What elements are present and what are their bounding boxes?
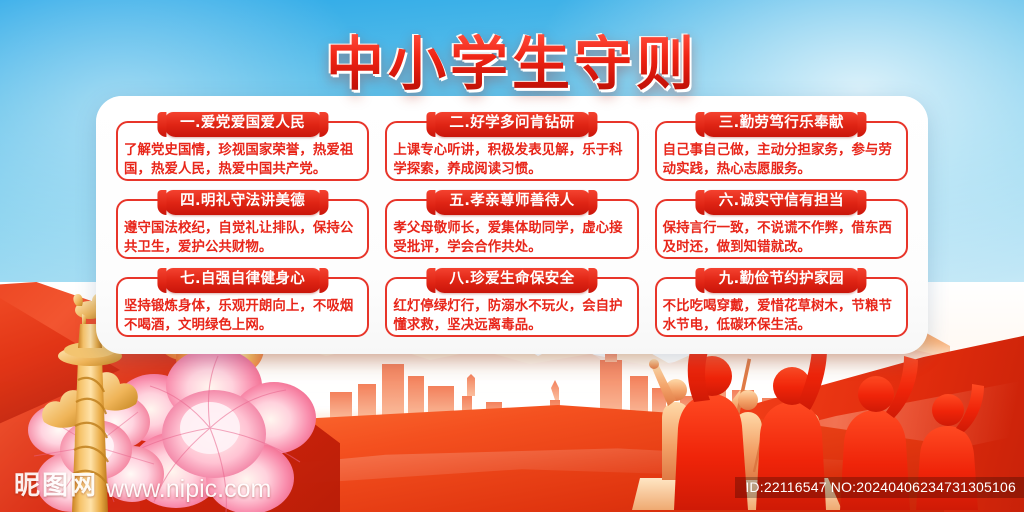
rule-card-header: 一.爱党爱国爱人民	[164, 112, 321, 137]
image-id-label: ID:22116547 NO:20240406234731305106	[735, 477, 1024, 498]
rule-card-body: 上课专心听讲，积极发表见解，乐于科学探索，养成阅读习惯。	[393, 142, 630, 179]
rule-card-body: 坚持锻炼身体，乐观开朗向上，不吸烟不喝酒，文明绿色上网。	[124, 298, 361, 335]
rule-card[interactable]: 五.孝亲尊师善待人 孝父母敬师长，爱集体助同学，虚心接受批评，学会合作共处。	[383, 190, 640, 262]
rule-card[interactable]: 二.好学多问肯钻研 上课专心听讲，积极发表见解，乐于科学探索，养成阅读习惯。	[383, 112, 640, 184]
rule-card-header: 七.自强自律健身心	[164, 268, 321, 293]
rule-card-body: 红灯停绿灯行，防溺水不玩火，会自护懂求救，坚决远离毒品。	[393, 298, 630, 335]
poster-canvas: 中小学生守则 一.爱党爱国爱人民 了解党史国情，珍视国家荣誉，热爱祖国，热爱人民…	[0, 0, 1024, 512]
rule-card-body: 保持言行一致，不说谎不作弊，借东西及时还，做到知错就改。	[663, 220, 900, 257]
rule-card-header: 六.诚实守信有担当	[703, 190, 860, 215]
rule-card-body: 了解党史国情，珍视国家荣誉，热爱祖国，热爱人民，热爱中国共产党。	[124, 142, 361, 179]
rule-card-header: 二.好学多问肯钻研	[433, 112, 590, 137]
rule-card-header: 三.勤劳笃行乐奉献	[703, 112, 860, 137]
rule-card-header: 四.明礼守法讲美德	[164, 190, 321, 215]
rule-card[interactable]: 九.勤俭节约护家园 不比吃喝穿戴，爱惜花草树木，节粮节水节电，低碳环保生活。	[653, 268, 910, 340]
rule-card-header: 五.孝亲尊师善待人	[433, 190, 590, 215]
rule-card-body: 不比吃喝穿戴，爱惜花草树木，节粮节水节电，低碳环保生活。	[663, 298, 900, 335]
rule-card-header: 八.珍爱生命保安全	[433, 268, 590, 293]
rule-card[interactable]: 一.爱党爱国爱人民 了解党史国情，珍视国家荣誉，热爱祖国，热爱人民，热爱中国共产…	[114, 112, 371, 184]
rule-card-body: 自己事自己做，主动分担家务，参与劳动实践，热心志愿服务。	[663, 142, 900, 179]
title-container: 中小学生守则	[0, 34, 1024, 95]
rule-card-header: 九.勤俭节约护家园	[703, 268, 860, 293]
rule-card[interactable]: 七.自强自律健身心 坚持锻炼身体，乐观开朗向上，不吸烟不喝酒，文明绿色上网。	[114, 268, 371, 340]
rule-card[interactable]: 四.明礼守法讲美德 遵守国法校纪，自觉礼让排队，保持公共卫生，爱护公共财物。	[114, 190, 371, 262]
watermark-url: www.nipic.com	[106, 476, 271, 502]
rule-card[interactable]: 八.珍爱生命保安全 红灯停绿灯行，防溺水不玩火，会自护懂求救，坚决远离毒品。	[383, 268, 640, 340]
rule-card[interactable]: 三.勤劳笃行乐奉献 自己事自己做，主动分担家务，参与劳动实践，热心志愿服务。	[653, 112, 910, 184]
watermark: 昵图网 www.nipic.com	[14, 465, 271, 502]
rules-grid: 一.爱党爱国爱人民 了解党史国情，珍视国家荣誉，热爱祖国，热爱人民，热爱中国共产…	[114, 112, 910, 340]
rule-card-body: 孝父母敬师长，爱集体助同学，虚心接受批评，学会合作共处。	[393, 220, 630, 257]
rule-card-body: 遵守国法校纪，自觉礼让排队，保持公共卫生，爱护公共财物。	[124, 220, 361, 257]
rule-card[interactable]: 六.诚实守信有担当 保持言行一致，不说谎不作弊，借东西及时还，做到知错就改。	[653, 190, 910, 262]
poster-title: 中小学生守则	[326, 34, 698, 95]
watermark-brand: 昵图网	[14, 465, 98, 502]
rules-panel: 一.爱党爱国爱人民 了解党史国情，珍视国家荣誉，热爱祖国，热爱人民，热爱中国共产…	[96, 96, 928, 354]
